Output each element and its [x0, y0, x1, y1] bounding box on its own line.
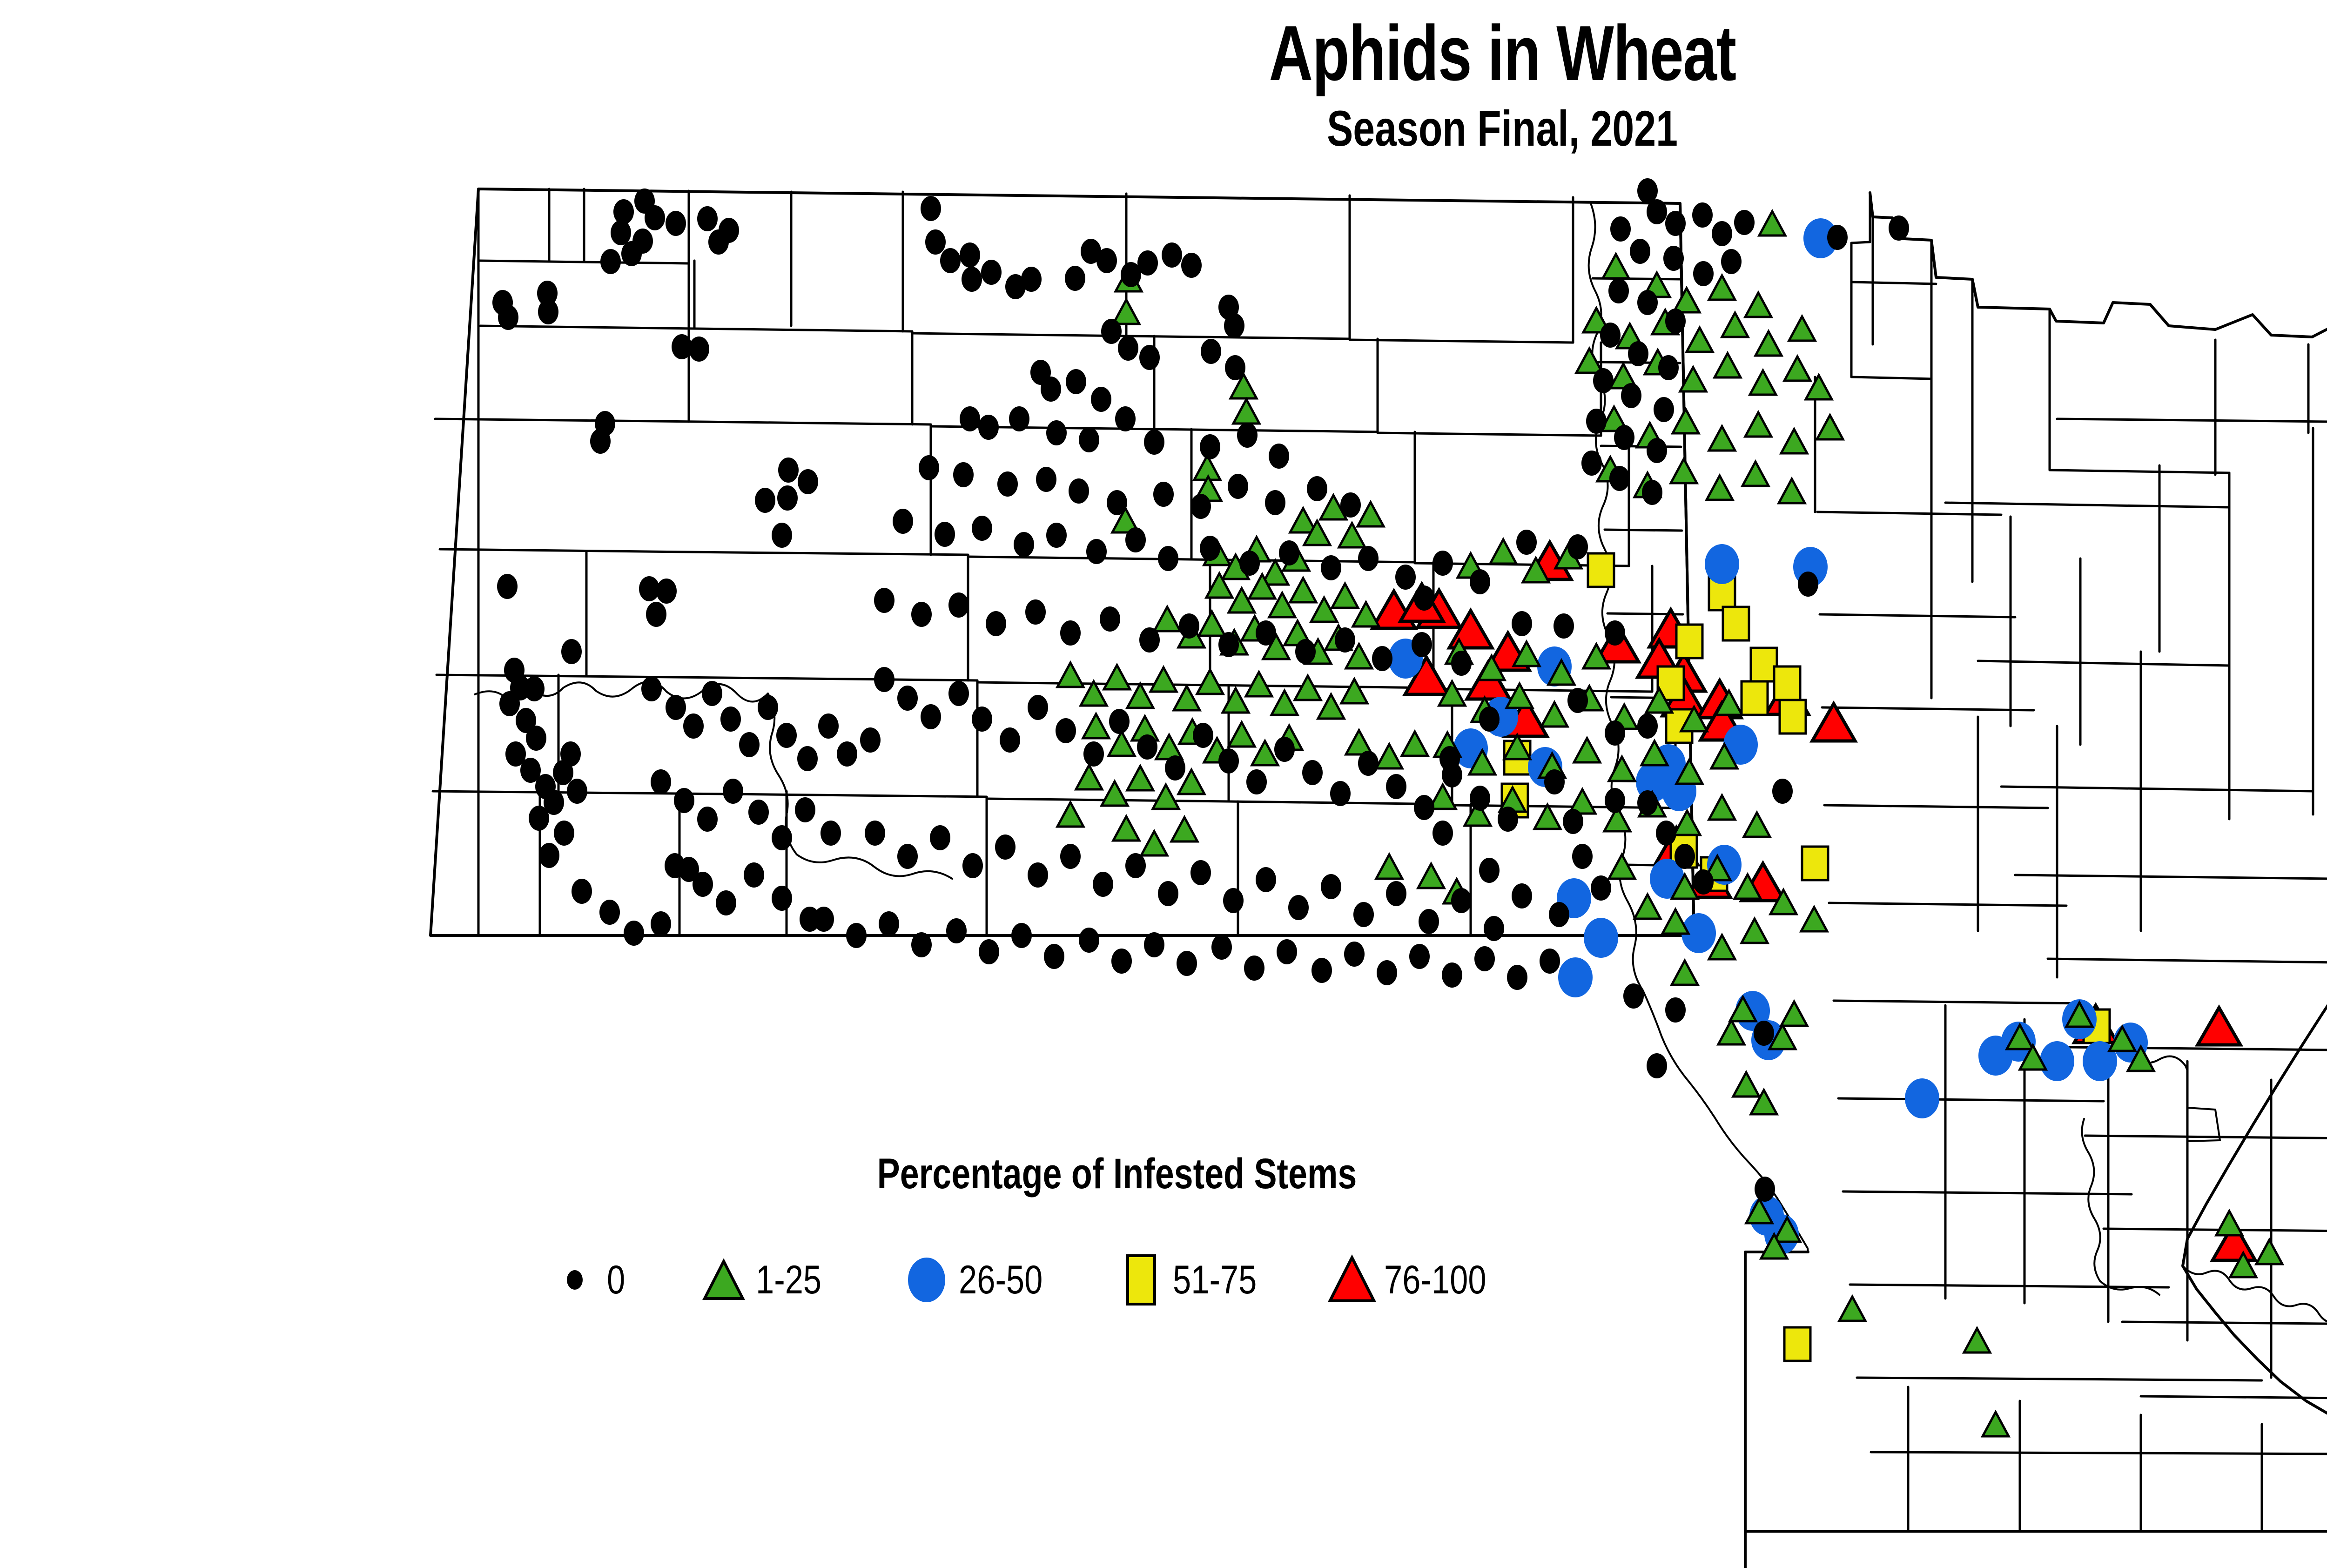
map-marker	[1784, 1327, 1810, 1361]
map-marker	[1028, 695, 1048, 720]
map-marker	[1246, 769, 1267, 794]
map-marker	[723, 779, 743, 804]
map-marker	[1165, 755, 1185, 781]
map-marker	[1754, 1021, 1774, 1046]
map-marker	[860, 727, 881, 753]
map-marker	[893, 509, 913, 534]
map-marker	[1781, 429, 1807, 453]
map-marker	[1614, 425, 1634, 450]
map-marker	[978, 415, 999, 440]
map-marker	[1150, 667, 1177, 692]
map-marker	[1386, 881, 1406, 906]
map-marker	[1060, 844, 1081, 869]
map-marker	[1271, 691, 1298, 715]
map-marker	[1218, 632, 1239, 657]
map-marker	[1574, 738, 1600, 762]
map-marker	[1200, 536, 1220, 561]
map-marker	[1451, 651, 1472, 676]
map-marker	[1115, 406, 1136, 431]
map-marker	[948, 592, 969, 618]
map-marker	[2198, 1008, 2240, 1045]
map-marker	[689, 336, 709, 362]
map-marker	[1256, 620, 1276, 646]
map-marker	[1307, 476, 1327, 501]
map-marker	[634, 188, 655, 214]
map-marker	[1889, 215, 1909, 241]
map-marker	[1211, 935, 1232, 960]
map-marker	[1621, 383, 1641, 408]
map-marker	[772, 523, 792, 548]
map-marker	[613, 199, 634, 224]
map-canvas	[0, 0, 2327, 1568]
map-marker	[1009, 406, 1029, 431]
map-marker	[1288, 895, 1309, 920]
map-marker	[1137, 250, 1158, 276]
map-marker	[1228, 474, 1248, 499]
map-marker	[953, 462, 974, 487]
map-marker	[1605, 720, 1625, 746]
map-marker	[1332, 584, 1358, 608]
map-marker	[1269, 444, 1289, 469]
map-marker	[1102, 781, 1128, 806]
map-marker	[600, 249, 621, 274]
map-marker	[1229, 722, 1255, 747]
map-marker	[651, 911, 671, 936]
map-marker	[1414, 795, 1434, 820]
map-marker	[1083, 741, 1104, 767]
map-marker	[1516, 530, 1537, 555]
map-marker	[539, 843, 559, 868]
map-marker	[2040, 1041, 2074, 1081]
map-marker	[1141, 831, 1167, 855]
map-marker	[1419, 909, 1439, 934]
map-marker	[621, 241, 642, 266]
map-marker	[1603, 254, 1629, 278]
map-marker	[1665, 997, 1686, 1023]
map-marker	[1107, 490, 1127, 515]
map-marker	[755, 488, 775, 513]
map-marker	[1412, 632, 1432, 657]
map-marker	[1817, 415, 1843, 439]
map-marker	[1139, 627, 1160, 653]
map-marker	[1567, 534, 1588, 559]
map-marker	[1674, 811, 1700, 835]
map-marker	[1745, 293, 1771, 317]
map-marker	[1256, 867, 1276, 892]
map-marker	[1628, 341, 1648, 366]
map-marker	[1591, 875, 1611, 901]
map-marker	[1755, 331, 1782, 356]
markers-class-1-25	[1057, 211, 2327, 1436]
map-marker	[1081, 681, 1107, 706]
map-marker	[1127, 766, 1153, 790]
map-marker	[874, 588, 894, 613]
map-marker	[911, 602, 932, 627]
map-marker	[624, 921, 644, 946]
map-marker	[1755, 1177, 1775, 1202]
map-marker	[1712, 221, 1732, 246]
map-marker	[837, 741, 857, 767]
map-marker	[1218, 748, 1239, 774]
map-marker	[1311, 958, 1332, 983]
map-marker	[1295, 639, 1316, 664]
map-marker	[1567, 688, 1588, 713]
map-marker	[1321, 874, 1341, 899]
map-marker	[1745, 412, 1771, 437]
map-marker	[1358, 502, 1384, 526]
map-marker	[846, 923, 867, 948]
map-marker	[1654, 397, 1674, 422]
map-marker	[1479, 858, 1500, 883]
map-marker	[1376, 855, 1402, 879]
map-marker	[1709, 426, 1735, 451]
map-marker	[960, 406, 980, 431]
map-marker	[1605, 620, 1625, 646]
map-marker	[702, 681, 722, 706]
map-marker	[1723, 607, 1749, 640]
map-marker	[1044, 944, 1064, 969]
map-marker	[1104, 665, 1130, 689]
map-marker	[1011, 923, 1032, 948]
map-marker	[981, 260, 1002, 285]
map-marker	[1707, 476, 1733, 500]
map-marker	[1781, 1002, 1807, 1026]
map-marker	[1395, 565, 1416, 590]
map-marker	[879, 911, 899, 936]
map-marker	[797, 746, 818, 771]
map-marker	[921, 196, 941, 221]
map-marker	[1512, 611, 1532, 636]
map-marker	[1541, 702, 1567, 727]
map-marker	[795, 797, 815, 822]
map-marker	[1021, 267, 1042, 292]
map-marker	[1076, 765, 1102, 789]
map-marker	[1000, 727, 1020, 753]
map-marker	[1057, 663, 1083, 687]
map-marker	[1224, 313, 1244, 338]
map-marker	[1637, 790, 1658, 815]
map-marker	[1642, 480, 1662, 505]
map-marker	[554, 821, 574, 846]
markers-class-51-75	[1502, 553, 2327, 1396]
map-marker	[499, 691, 520, 716]
map-marker	[1200, 434, 1220, 459]
map-marker	[1060, 620, 1081, 646]
map-marker	[925, 229, 946, 255]
map-marker	[1358, 751, 1379, 776]
map-marker	[1321, 555, 1341, 580]
map-marker	[1290, 578, 1316, 602]
map-marker	[1335, 627, 1355, 653]
map-marker	[1534, 805, 1560, 829]
map-marker	[1086, 539, 1107, 564]
map-marker	[1190, 494, 1211, 519]
map-marker	[1676, 625, 1702, 658]
map-marker	[1637, 713, 1658, 739]
map-marker	[1154, 607, 1180, 631]
map-marker	[865, 821, 885, 846]
map-marker	[962, 853, 983, 878]
map-marker	[1558, 957, 1593, 997]
map-marker	[656, 579, 677, 604]
map-marker	[1827, 225, 1848, 250]
map-marker	[1433, 551, 1453, 576]
map-marker	[778, 458, 799, 483]
map-marker	[995, 834, 1016, 860]
map-marker	[1722, 313, 1748, 337]
map-marker	[1780, 700, 1806, 734]
markers-class-76-100	[1372, 542, 2255, 1260]
map-marker	[1028, 862, 1048, 888]
map-marker	[1687, 328, 1713, 352]
map-marker	[1665, 309, 1686, 334]
map-marker	[1101, 319, 1122, 344]
map-marker	[776, 723, 797, 748]
map-marker	[1036, 467, 1056, 492]
map-marker	[946, 918, 967, 943]
map-marker	[1665, 211, 1686, 236]
map-marker	[1563, 809, 1583, 834]
map-marker	[720, 707, 741, 732]
map-marker	[2256, 1240, 2282, 1264]
map-marker	[641, 676, 662, 701]
map-marker	[1812, 704, 1855, 741]
map-marker	[1774, 666, 1800, 700]
map-marker	[1418, 864, 1444, 888]
map-marker	[1341, 679, 1367, 703]
map-marker	[1609, 855, 1635, 879]
map-marker	[1113, 816, 1139, 841]
map-marker	[697, 807, 718, 832]
map-marker	[1576, 349, 1602, 373]
map-marker	[1340, 492, 1361, 518]
map-marker	[1647, 438, 1667, 463]
map-marker	[1295, 676, 1321, 700]
map-marker	[1693, 869, 1714, 895]
map-marker	[1623, 983, 1644, 1009]
map-marker	[1905, 1078, 1939, 1118]
map-marker	[1223, 888, 1244, 913]
map-marker	[1066, 369, 1086, 394]
map-marker	[972, 516, 992, 541]
map-marker	[1162, 242, 1182, 268]
map-marker	[1274, 737, 1295, 762]
map-marker	[1772, 779, 1793, 804]
map-marker	[1554, 613, 1574, 639]
map-marker	[1137, 734, 1157, 760]
map-marker	[777, 485, 798, 511]
map-marker	[1265, 490, 1285, 515]
map-marker	[1353, 902, 1374, 927]
map-marker	[1177, 951, 1197, 976]
map-marker	[1802, 847, 1828, 880]
map-marker	[1125, 527, 1146, 552]
map-marker	[1158, 546, 1178, 571]
map-marker	[921, 704, 941, 729]
map-marker	[1839, 1297, 1865, 1321]
map-marker	[1100, 606, 1120, 632]
map-marker	[1302, 760, 1323, 785]
map-marker	[1014, 532, 1034, 557]
map-marker	[1144, 430, 1164, 455]
map-marker	[1470, 569, 1490, 594]
map-marker	[1610, 216, 1631, 242]
map-marker	[1433, 821, 1453, 846]
map-marker	[1609, 757, 1635, 781]
map-marker	[1549, 902, 1569, 927]
map-marker	[772, 886, 792, 911]
map-marker	[1111, 949, 1132, 974]
map-marker	[1540, 949, 1560, 974]
map-marker	[1779, 479, 1805, 503]
map-marker	[960, 242, 980, 268]
map-marker	[1439, 746, 1460, 771]
map-marker	[1113, 300, 1139, 324]
map-marker	[1673, 409, 1699, 433]
map-marker	[814, 907, 834, 932]
map-marker	[1490, 539, 1516, 564]
map-marker	[693, 872, 713, 897]
map-marker	[1789, 316, 1815, 341]
map-marker	[1330, 781, 1351, 806]
map-marker	[1069, 478, 1089, 504]
map-marker	[1750, 370, 1776, 395]
map-marker	[1507, 965, 1527, 990]
map-marker	[666, 211, 686, 236]
map-marker	[1784, 357, 1810, 381]
map-marker	[1093, 872, 1113, 897]
map-marker	[772, 825, 792, 850]
map-marker	[1498, 807, 1518, 832]
map-marker	[1199, 612, 1225, 636]
map-marker	[1244, 956, 1264, 981]
map-marker	[716, 890, 736, 915]
map-marker	[1647, 1053, 1667, 1078]
map-marker	[1153, 482, 1174, 507]
map-marker	[1229, 588, 1255, 612]
map-marker	[935, 522, 955, 547]
map-marker	[1096, 248, 1117, 273]
map-marker	[1041, 377, 1061, 402]
map-marker	[1692, 202, 1713, 228]
map-marker	[1372, 646, 1392, 671]
map-marker	[1759, 211, 1785, 236]
map-marker	[526, 726, 546, 751]
map-marker	[1025, 599, 1046, 625]
map-marker	[1057, 802, 1083, 827]
map-marker	[646, 602, 666, 627]
map-marker	[739, 732, 760, 757]
map-marker	[986, 611, 1006, 636]
map-marker	[1079, 427, 1099, 452]
map-marker	[1197, 670, 1223, 694]
map-marker	[1201, 339, 1221, 364]
map-marker	[665, 853, 685, 878]
map-marker	[498, 305, 518, 330]
map-marker	[1674, 288, 1700, 312]
map-marker	[674, 788, 694, 813]
map-marker	[1083, 714, 1109, 738]
map-marker	[930, 825, 950, 850]
map-marker	[1586, 409, 1607, 434]
map-marker	[1721, 249, 1742, 274]
map-marker	[1279, 540, 1299, 565]
map-marker	[1181, 253, 1202, 278]
map-marker	[1246, 672, 1272, 696]
map-marker	[1139, 345, 1160, 370]
map-marker	[2216, 1211, 2242, 1235]
map-marker	[997, 471, 1018, 497]
map-marker	[1109, 732, 1135, 756]
map-marker	[1065, 266, 1085, 291]
map-marker	[538, 299, 558, 324]
map-marker	[1744, 813, 1770, 837]
map-marker	[821, 821, 841, 846]
map-marker	[1709, 795, 1735, 820]
map-marker	[1605, 788, 1625, 813]
map-marker	[1733, 1072, 1759, 1097]
map-marker	[1125, 853, 1146, 878]
map-marker	[1442, 962, 1462, 988]
map-marker	[1705, 544, 1739, 584]
map-marker	[1637, 290, 1658, 315]
map-marker	[1983, 1412, 2009, 1436]
map-marker	[1223, 688, 1249, 713]
map-marker	[1671, 459, 1697, 483]
map-marker	[1153, 785, 1179, 809]
map-marker	[1693, 261, 1714, 286]
map-marker	[1376, 744, 1402, 768]
map-marker	[1479, 707, 1500, 732]
map-marker	[1609, 466, 1630, 491]
map-marker	[561, 639, 582, 664]
map-marker	[1608, 278, 1629, 303]
map-marker	[1662, 909, 1688, 934]
map-marker	[708, 229, 729, 255]
map-marker	[1179, 613, 1199, 639]
map-marker	[560, 741, 581, 767]
map-marker	[1127, 684, 1153, 708]
map-marker	[1156, 735, 1182, 759]
map-marker	[1470, 786, 1490, 811]
map-marker	[1079, 928, 1099, 953]
map-marker	[1409, 944, 1430, 969]
map-marker	[1572, 844, 1593, 869]
map-marker	[1046, 523, 1067, 548]
map-marker	[1798, 572, 1818, 597]
map-marker	[798, 469, 818, 494]
map-marker	[1663, 246, 1684, 271]
map-marker	[818, 713, 839, 739]
map-marker	[666, 695, 686, 720]
map-marker	[1584, 918, 1618, 958]
map-marker	[1386, 774, 1406, 799]
map-marker	[1318, 694, 1344, 719]
map-marker	[1506, 684, 1533, 708]
map-marker	[1630, 239, 1650, 264]
map-marker	[567, 779, 587, 804]
map-marker	[1109, 709, 1130, 734]
map-marker	[911, 932, 932, 957]
map-marker	[1193, 723, 1213, 748]
map-marker	[572, 879, 592, 904]
map-marker	[1451, 888, 1472, 913]
map-marker	[611, 220, 631, 245]
map-marker	[1171, 817, 1197, 841]
map-marker	[1056, 718, 1076, 743]
map-marker	[1715, 353, 1741, 377]
map-marker	[1225, 355, 1245, 380]
